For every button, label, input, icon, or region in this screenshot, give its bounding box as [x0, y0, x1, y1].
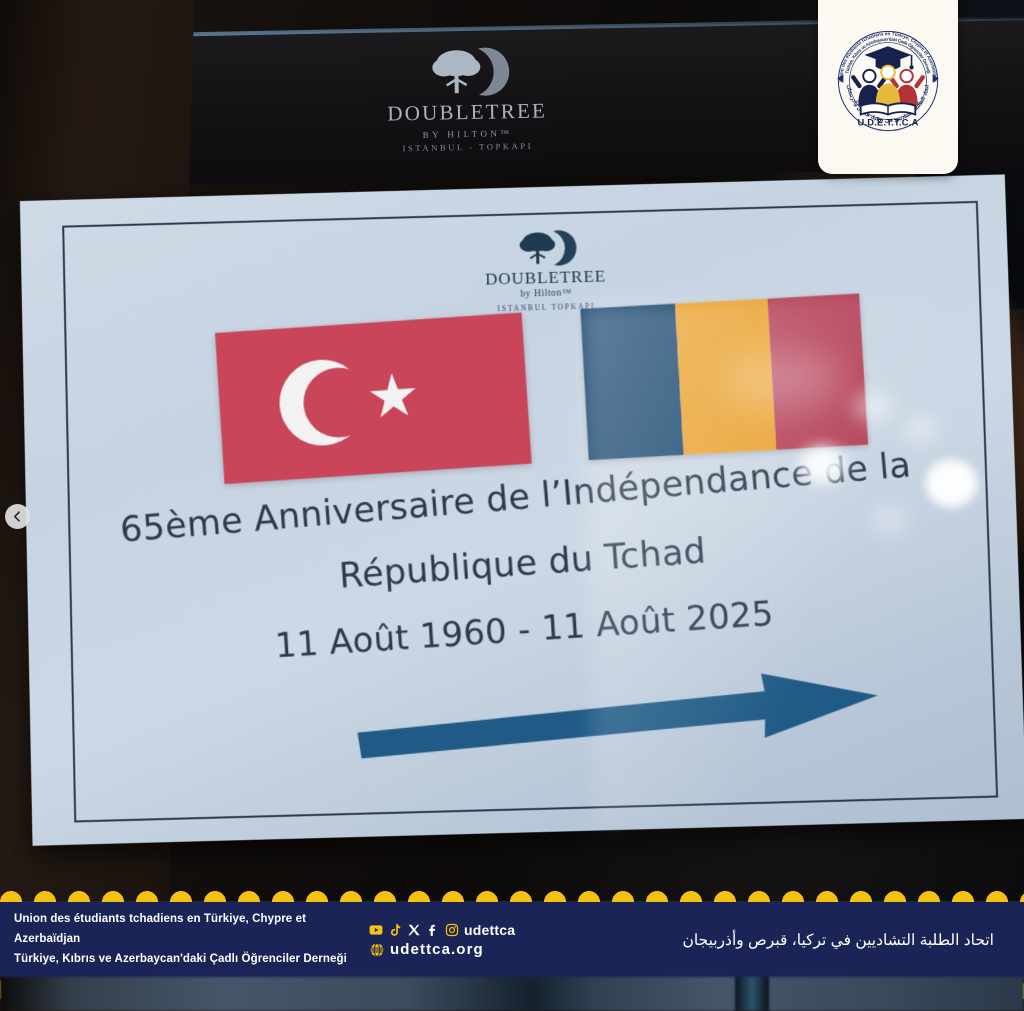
poster-area: DOUBLETREE by Hilton™ ISTANBUL TOPKAPI	[18, 178, 1024, 838]
crescent-star-icon	[277, 357, 368, 448]
signage-byline: BY HILTON™	[353, 127, 583, 141]
facebook-icon[interactable]	[426, 923, 440, 937]
footer-org-fr: Union des étudiants tchadiens en Türkiye…	[14, 910, 369, 950]
instagram-icon[interactable]	[445, 923, 459, 937]
carousel-prev-button[interactable]	[5, 504, 30, 529]
footer-handle[interactable]: udettca	[464, 922, 515, 938]
doubletree-tree-icon	[351, 42, 582, 102]
star-icon	[368, 371, 419, 422]
footer-scallop-top	[0, 885, 1024, 902]
udettca-logo-icon: Union des étudiants tchadiens en Türkiye…	[826, 19, 950, 143]
globe-icon	[369, 942, 385, 958]
chad-flag-band-blue	[580, 304, 683, 460]
chad-flag-band-red	[767, 294, 868, 450]
chevron-left-icon	[11, 510, 24, 523]
footer-website[interactable]: udettca.org	[390, 941, 484, 958]
x-twitter-icon[interactable]	[407, 923, 421, 937]
turkey-flag	[215, 312, 532, 484]
chad-flag-band-yellow	[675, 299, 776, 455]
footer-org-ar: اتحاد الطلبة التشاديين في تركيا، قبرص وأ…	[609, 931, 1010, 950]
footer-org-tr: Türkiye, Kıbrıs ve Azerbaycan'daki Çadlı…	[14, 950, 369, 970]
svg-text:U.D.E.T.T.C.A: U.D.E.T.T.C.A	[857, 118, 918, 128]
footer-website-row[interactable]: udettca.org	[369, 941, 609, 958]
hotel-signage: DOUBLETREE BY HILTON™ ISTANBUL - TOPKAPI	[351, 42, 583, 164]
poster-hotel-logo: DOUBLETREE by Hilton™ ISTANBUL TOPKAPI	[460, 226, 632, 314]
photo-bottom-strip	[0, 977, 1024, 1011]
footer-social-block: udettca udettca.org	[369, 922, 609, 958]
poster-sheet: DOUBLETREE by Hilton™ ISTANBUL TOPKAPI	[20, 174, 1024, 845]
tiktok-icon[interactable]	[388, 923, 402, 937]
footer-banner: Union des étudiants tchadiens en Türkiye…	[0, 901, 1024, 979]
screenshot-root: DOUBLETREE BY HILTON™ ISTANBUL - TOPKAPI	[0, 0, 1024, 1011]
youtube-icon[interactable]	[369, 923, 383, 937]
poster-headline: 65ème Anniversaire de l’Indépendance de …	[26, 465, 1021, 664]
footer-org-names: Union des étudiants tchadiens en Türkiye…	[14, 910, 369, 969]
signage-location: ISTANBUL - TOPKAPI	[353, 140, 583, 154]
direction-arrow-icon	[355, 661, 881, 774]
doubletree-tree-icon	[460, 226, 630, 270]
signage-brand: DOUBLETREE	[352, 98, 582, 127]
footer-social-row[interactable]: udettca	[369, 922, 609, 938]
chad-flag	[580, 294, 868, 460]
organization-badge[interactable]: Union des étudiants tchadiens en Türkiye…	[818, 0, 958, 174]
poster-content: DOUBLETREE by Hilton™ ISTANBUL TOPKAPI	[20, 174, 1024, 845]
